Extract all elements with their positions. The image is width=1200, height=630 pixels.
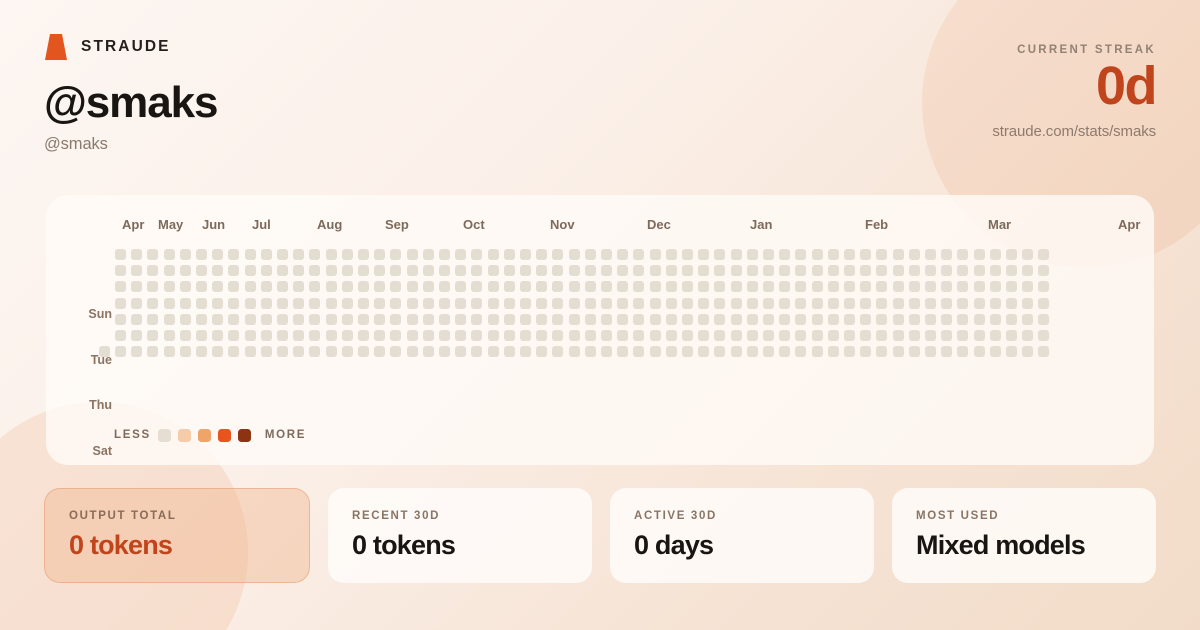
heatmap-cell[interactable]	[909, 249, 920, 260]
heatmap-cell[interactable]	[536, 249, 547, 260]
heatmap-cell[interactable]	[164, 346, 175, 357]
heatmap-cell[interactable]	[277, 281, 288, 292]
heatmap-cell[interactable]	[569, 330, 580, 341]
heatmap-cell[interactable]	[974, 249, 985, 260]
heatmap-cell[interactable]	[876, 265, 887, 276]
heatmap-cell[interactable]	[390, 249, 401, 260]
heatmap-cell[interactable]	[326, 314, 337, 325]
heatmap-cell[interactable]	[326, 281, 337, 292]
heatmap-cell[interactable]	[147, 249, 158, 260]
heatmap-cell[interactable]	[293, 281, 304, 292]
heatmap-cell[interactable]	[374, 298, 385, 309]
heatmap-cell[interactable]	[876, 298, 887, 309]
heatmap-cell[interactable]	[601, 330, 612, 341]
heatmap-cell[interactable]	[1006, 281, 1017, 292]
heatmap-cell[interactable]	[617, 314, 628, 325]
heatmap-cell[interactable]	[585, 298, 596, 309]
heatmap-cell[interactable]	[1022, 314, 1033, 325]
heatmap-cell[interactable]	[974, 298, 985, 309]
heatmap-cell[interactable]	[893, 249, 904, 260]
heatmap-cell[interactable]	[1006, 249, 1017, 260]
heatmap-cell[interactable]	[423, 298, 434, 309]
heatmap-cell[interactable]	[228, 314, 239, 325]
heatmap-cell[interactable]	[828, 249, 839, 260]
heatmap-cell[interactable]	[245, 249, 256, 260]
heatmap-cell[interactable]	[747, 346, 758, 357]
heatmap-cell[interactable]	[536, 298, 547, 309]
heatmap-cell[interactable]	[131, 298, 142, 309]
heatmap-cell[interactable]	[488, 281, 499, 292]
heatmap-cell[interactable]	[471, 281, 482, 292]
heatmap-cell[interactable]	[714, 265, 725, 276]
heatmap-cell[interactable]	[714, 346, 725, 357]
heatmap-cell[interactable]	[261, 298, 272, 309]
heatmap-cell[interactable]	[860, 314, 871, 325]
stat-card[interactable]: RECENT 30D0 tokens	[328, 488, 592, 583]
heatmap-cell[interactable]	[504, 346, 515, 357]
heatmap-cell[interactable]	[585, 265, 596, 276]
heatmap-cell[interactable]	[925, 249, 936, 260]
stat-card[interactable]: OUTPUT TOTAL0 tokens	[44, 488, 310, 583]
heatmap-cell[interactable]	[407, 314, 418, 325]
heatmap-cell[interactable]	[115, 346, 126, 357]
heatmap-cell[interactable]	[390, 346, 401, 357]
heatmap-cell[interactable]	[471, 346, 482, 357]
heatmap-cell[interactable]	[957, 265, 968, 276]
heatmap-cell[interactable]	[974, 346, 985, 357]
heatmap-cell[interactable]	[698, 265, 709, 276]
heatmap-cell[interactable]	[1006, 330, 1017, 341]
heatmap-cell[interactable]	[650, 249, 661, 260]
heatmap-cell[interactable]	[504, 314, 515, 325]
heatmap-cell[interactable]	[812, 249, 823, 260]
heatmap-cell[interactable]	[779, 314, 790, 325]
heatmap-cell[interactable]	[812, 298, 823, 309]
heatmap-cell[interactable]	[293, 249, 304, 260]
heatmap-cell[interactable]	[471, 330, 482, 341]
heatmap-cell[interactable]	[893, 330, 904, 341]
heatmap-cell[interactable]	[714, 281, 725, 292]
heatmap-cell[interactable]	[520, 314, 531, 325]
heatmap-cell[interactable]	[261, 281, 272, 292]
heatmap-cell[interactable]	[893, 346, 904, 357]
heatmap-cell[interactable]	[212, 249, 223, 260]
heatmap-cell[interactable]	[358, 330, 369, 341]
heatmap-cell[interactable]	[488, 249, 499, 260]
heatmap-cell[interactable]	[714, 298, 725, 309]
heatmap-cell[interactable]	[795, 265, 806, 276]
heatmap-cell[interactable]	[131, 281, 142, 292]
heatmap-cell[interactable]	[990, 265, 1001, 276]
heatmap-cell[interactable]	[601, 281, 612, 292]
heatmap-cell[interactable]	[682, 346, 693, 357]
heatmap-cell[interactable]	[779, 298, 790, 309]
heatmap-cell[interactable]	[407, 281, 418, 292]
heatmap-cell[interactable]	[828, 298, 839, 309]
heatmap-cell[interactable]	[990, 298, 1001, 309]
heatmap-cell[interactable]	[763, 265, 774, 276]
heatmap-cell[interactable]	[860, 298, 871, 309]
heatmap-cell[interactable]	[714, 330, 725, 341]
heatmap-cell[interactable]	[666, 281, 677, 292]
heatmap-cell[interactable]	[196, 281, 207, 292]
heatmap-cell[interactable]	[731, 346, 742, 357]
heatmap-cell[interactable]	[633, 249, 644, 260]
heatmap-cell[interactable]	[909, 330, 920, 341]
heatmap-cell[interactable]	[1038, 265, 1049, 276]
heatmap-cell[interactable]	[650, 330, 661, 341]
heatmap-cell[interactable]	[115, 330, 126, 341]
heatmap-cell[interactable]	[747, 330, 758, 341]
heatmap-cell[interactable]	[633, 298, 644, 309]
heatmap-cell[interactable]	[779, 346, 790, 357]
heatmap-cell[interactable]	[795, 281, 806, 292]
heatmap-cell[interactable]	[957, 298, 968, 309]
heatmap-cell[interactable]	[909, 265, 920, 276]
heatmap-cell[interactable]	[245, 281, 256, 292]
heatmap-cell[interactable]	[650, 314, 661, 325]
heatmap-cell[interactable]	[455, 249, 466, 260]
heatmap-cell[interactable]	[1006, 265, 1017, 276]
heatmap-cell[interactable]	[1022, 330, 1033, 341]
heatmap-cell[interactable]	[196, 346, 207, 357]
heatmap-cell[interactable]	[860, 265, 871, 276]
heatmap-cell[interactable]	[763, 249, 774, 260]
heatmap-cell[interactable]	[115, 265, 126, 276]
heatmap-cell[interactable]	[245, 330, 256, 341]
heatmap-cell[interactable]	[520, 265, 531, 276]
heatmap-cell[interactable]	[585, 330, 596, 341]
heatmap-cell[interactable]	[309, 298, 320, 309]
heatmap-cell[interactable]	[844, 281, 855, 292]
heatmap-cell[interactable]	[633, 330, 644, 341]
heatmap-cell[interactable]	[633, 346, 644, 357]
heatmap-cell[interactable]	[196, 265, 207, 276]
heatmap-cell[interactable]	[228, 265, 239, 276]
heatmap-cell[interactable]	[147, 281, 158, 292]
heatmap-cell[interactable]	[828, 346, 839, 357]
heatmap-cell[interactable]	[698, 298, 709, 309]
heatmap-cell[interactable]	[1006, 346, 1017, 357]
heatmap-cell[interactable]	[552, 265, 563, 276]
heatmap-cell[interactable]	[520, 281, 531, 292]
heatmap-cell[interactable]	[795, 330, 806, 341]
heatmap-cell[interactable]	[309, 346, 320, 357]
heatmap-cell[interactable]	[1006, 314, 1017, 325]
heatmap-cell[interactable]	[455, 298, 466, 309]
heatmap-cell[interactable]	[714, 249, 725, 260]
heatmap-cell[interactable]	[374, 281, 385, 292]
heatmap-cell[interactable]	[1038, 346, 1049, 357]
heatmap-cell[interactable]	[1038, 298, 1049, 309]
heatmap-cell[interactable]	[893, 281, 904, 292]
heatmap-cell[interactable]	[941, 298, 952, 309]
heatmap-cell[interactable]	[439, 330, 450, 341]
heatmap-cell[interactable]	[812, 265, 823, 276]
heatmap-cell[interactable]	[309, 249, 320, 260]
heatmap-cell[interactable]	[455, 265, 466, 276]
heatmap-cell[interactable]	[212, 265, 223, 276]
heatmap-cell[interactable]	[390, 314, 401, 325]
heatmap-cell[interactable]	[293, 330, 304, 341]
heatmap-cell[interactable]	[552, 346, 563, 357]
heatmap-cell[interactable]	[455, 281, 466, 292]
heatmap-cell[interactable]	[731, 281, 742, 292]
heatmap-cell[interactable]	[358, 346, 369, 357]
heatmap-cell[interactable]	[795, 346, 806, 357]
heatmap-cell[interactable]	[957, 249, 968, 260]
heatmap-cell[interactable]	[585, 346, 596, 357]
heatmap-cell[interactable]	[650, 298, 661, 309]
heatmap-cell[interactable]	[358, 314, 369, 325]
heatmap-cell[interactable]	[860, 330, 871, 341]
heatmap-cell[interactable]	[115, 314, 126, 325]
heatmap-cell[interactable]	[131, 346, 142, 357]
heatmap-cell[interactable]	[390, 330, 401, 341]
heatmap-cell[interactable]	[293, 265, 304, 276]
heatmap-cell[interactable]	[876, 281, 887, 292]
stat-card[interactable]: MOST USEDMixed models	[892, 488, 1156, 583]
heatmap-cell[interactable]	[196, 330, 207, 341]
heatmap-cell[interactable]	[342, 249, 353, 260]
heatmap-cell[interactable]	[228, 346, 239, 357]
heatmap-cell[interactable]	[731, 298, 742, 309]
heatmap-cell[interactable]	[1022, 346, 1033, 357]
heatmap-cell[interactable]	[957, 314, 968, 325]
heatmap-cell[interactable]	[990, 249, 1001, 260]
heatmap-cell[interactable]	[407, 265, 418, 276]
heatmap-cell[interactable]	[407, 346, 418, 357]
heatmap-cell[interactable]	[876, 330, 887, 341]
heatmap-cell[interactable]	[666, 330, 677, 341]
heatmap-cell[interactable]	[180, 249, 191, 260]
heatmap-cell[interactable]	[601, 346, 612, 357]
heatmap-cell[interactable]	[974, 265, 985, 276]
heatmap-cell[interactable]	[682, 314, 693, 325]
heatmap-cell[interactable]	[407, 330, 418, 341]
heatmap-cell[interactable]	[504, 249, 515, 260]
heatmap-cell[interactable]	[552, 281, 563, 292]
heatmap-cell[interactable]	[990, 314, 1001, 325]
heatmap-cell[interactable]	[844, 298, 855, 309]
heatmap-cell[interactable]	[245, 298, 256, 309]
heatmap-cell[interactable]	[844, 346, 855, 357]
heatmap-cell[interactable]	[974, 281, 985, 292]
heatmap-cell[interactable]	[617, 249, 628, 260]
heatmap-cell[interactable]	[1038, 281, 1049, 292]
heatmap-cell[interactable]	[147, 314, 158, 325]
heatmap-cell[interactable]	[147, 265, 158, 276]
heatmap-cell[interactable]	[180, 314, 191, 325]
heatmap-cell[interactable]	[1038, 314, 1049, 325]
heatmap-cell[interactable]	[293, 346, 304, 357]
heatmap-cell[interactable]	[633, 314, 644, 325]
heatmap-cell[interactable]	[504, 330, 515, 341]
heatmap-cell[interactable]	[779, 265, 790, 276]
heatmap-cell[interactable]	[925, 346, 936, 357]
heatmap-cell[interactable]	[1006, 298, 1017, 309]
heatmap-cell[interactable]	[471, 314, 482, 325]
heatmap-cell[interactable]	[423, 265, 434, 276]
heatmap-cell[interactable]	[488, 346, 499, 357]
heatmap-cell[interactable]	[1022, 265, 1033, 276]
heatmap-cell[interactable]	[941, 330, 952, 341]
heatmap-cell[interactable]	[212, 346, 223, 357]
heatmap-cell[interactable]	[520, 330, 531, 341]
heatmap-cell[interactable]	[1038, 330, 1049, 341]
heatmap-cell[interactable]	[569, 281, 580, 292]
heatmap-cell[interactable]	[779, 330, 790, 341]
heatmap-cell[interactable]	[974, 314, 985, 325]
heatmap-cell[interactable]	[245, 314, 256, 325]
heatmap-cell[interactable]	[439, 265, 450, 276]
heatmap-cell[interactable]	[342, 330, 353, 341]
heatmap-cell[interactable]	[844, 249, 855, 260]
heatmap-cell[interactable]	[147, 346, 158, 357]
heatmap-cell[interactable]	[650, 346, 661, 357]
heatmap-cell[interactable]	[277, 330, 288, 341]
heatmap-cell[interactable]	[957, 346, 968, 357]
heatmap-cell[interactable]	[941, 346, 952, 357]
heatmap-cell[interactable]	[569, 249, 580, 260]
heatmap-cell[interactable]	[552, 314, 563, 325]
heatmap-cell[interactable]	[277, 314, 288, 325]
heatmap-cell[interactable]	[633, 281, 644, 292]
heatmap-cell[interactable]	[455, 346, 466, 357]
heatmap-cell[interactable]	[617, 281, 628, 292]
heatmap-cell[interactable]	[147, 330, 158, 341]
heatmap-cell[interactable]	[277, 249, 288, 260]
heatmap-cell[interactable]	[1022, 298, 1033, 309]
heatmap-cell[interactable]	[876, 249, 887, 260]
heatmap-cell[interactable]	[488, 330, 499, 341]
heatmap-cell[interactable]	[876, 314, 887, 325]
heatmap-cell[interactable]	[650, 265, 661, 276]
heatmap-cell[interactable]	[941, 281, 952, 292]
heatmap-cell[interactable]	[504, 298, 515, 309]
heatmap-cell[interactable]	[196, 298, 207, 309]
heatmap-cell[interactable]	[569, 346, 580, 357]
heatmap-cell[interactable]	[131, 330, 142, 341]
heatmap-cell[interactable]	[828, 314, 839, 325]
heatmap-cell[interactable]	[925, 265, 936, 276]
heatmap-cell[interactable]	[941, 314, 952, 325]
heatmap-cell[interactable]	[520, 249, 531, 260]
heatmap-cell[interactable]	[812, 330, 823, 341]
heatmap-cell[interactable]	[536, 281, 547, 292]
heatmap-cell[interactable]	[1038, 249, 1049, 260]
heatmap-cell[interactable]	[682, 330, 693, 341]
heatmap-cell[interactable]	[439, 249, 450, 260]
heatmap-cell[interactable]	[536, 346, 547, 357]
heatmap-cell[interactable]	[763, 314, 774, 325]
heatmap-cell[interactable]	[650, 281, 661, 292]
heatmap-cell[interactable]	[617, 330, 628, 341]
heatmap-cell[interactable]	[115, 281, 126, 292]
heatmap-cell[interactable]	[358, 249, 369, 260]
heatmap-cell[interactable]	[1022, 249, 1033, 260]
heatmap-cell[interactable]	[731, 265, 742, 276]
heatmap-cell[interactable]	[439, 298, 450, 309]
heatmap-cell[interactable]	[666, 249, 677, 260]
heatmap-cell[interactable]	[941, 265, 952, 276]
heatmap-cell[interactable]	[180, 265, 191, 276]
heatmap-cell[interactable]	[245, 265, 256, 276]
heatmap-cell[interactable]	[747, 281, 758, 292]
heatmap-cell[interactable]	[439, 281, 450, 292]
heatmap-cell[interactable]	[261, 249, 272, 260]
heatmap-cell[interactable]	[731, 330, 742, 341]
heatmap-cell[interactable]	[293, 314, 304, 325]
heatmap-cell[interactable]	[812, 314, 823, 325]
heatmap-cell[interactable]	[277, 265, 288, 276]
heatmap-cell[interactable]	[164, 249, 175, 260]
heatmap-cell[interactable]	[617, 265, 628, 276]
heatmap-cell[interactable]	[115, 298, 126, 309]
heatmap-cell[interactable]	[423, 314, 434, 325]
heatmap-cell[interactable]	[860, 346, 871, 357]
heatmap-cell[interactable]	[326, 298, 337, 309]
heatmap-cell[interactable]	[164, 265, 175, 276]
heatmap-cell[interactable]	[682, 249, 693, 260]
heatmap-cell[interactable]	[617, 298, 628, 309]
heatmap-cell[interactable]	[374, 330, 385, 341]
heatmap-cell[interactable]	[471, 249, 482, 260]
stat-card[interactable]: ACTIVE 30D0 days	[610, 488, 874, 583]
heatmap-cell[interactable]	[277, 346, 288, 357]
heatmap-cell[interactable]	[698, 249, 709, 260]
heatmap-cell[interactable]	[293, 298, 304, 309]
heatmap-cell[interactable]	[99, 346, 110, 357]
heatmap-cell[interactable]	[228, 281, 239, 292]
heatmap-cell[interactable]	[844, 265, 855, 276]
heatmap-cell[interactable]	[763, 281, 774, 292]
heatmap-cell[interactable]	[147, 298, 158, 309]
heatmap-cell[interactable]	[131, 265, 142, 276]
heatmap-cell[interactable]	[925, 298, 936, 309]
heatmap-cell[interactable]	[698, 314, 709, 325]
heatmap-cell[interactable]	[488, 265, 499, 276]
heatmap-cell[interactable]	[228, 249, 239, 260]
heatmap-cell[interactable]	[617, 346, 628, 357]
heatmap-cell[interactable]	[666, 346, 677, 357]
heatmap-cell[interactable]	[164, 298, 175, 309]
heatmap-cell[interactable]	[763, 346, 774, 357]
heatmap-cell[interactable]	[812, 281, 823, 292]
heatmap-cell[interactable]	[763, 298, 774, 309]
heatmap-cell[interactable]	[115, 249, 126, 260]
heatmap-cell[interactable]	[698, 281, 709, 292]
heatmap-cell[interactable]	[536, 314, 547, 325]
heatmap-cell[interactable]	[795, 298, 806, 309]
heatmap-cell[interactable]	[212, 330, 223, 341]
heatmap-cell[interactable]	[342, 346, 353, 357]
heatmap-cell[interactable]	[682, 265, 693, 276]
heatmap-cell[interactable]	[228, 298, 239, 309]
heatmap-cell[interactable]	[261, 330, 272, 341]
heatmap-cell[interactable]	[131, 314, 142, 325]
heatmap-cell[interactable]	[520, 298, 531, 309]
heatmap-cell[interactable]	[407, 249, 418, 260]
heatmap-cell[interactable]	[423, 281, 434, 292]
heatmap-cell[interactable]	[585, 249, 596, 260]
heatmap-cell[interactable]	[261, 265, 272, 276]
heatmap-cell[interactable]	[779, 249, 790, 260]
heatmap-cell[interactable]	[682, 298, 693, 309]
heatmap-cell[interactable]	[1022, 281, 1033, 292]
heatmap-cell[interactable]	[488, 298, 499, 309]
heatmap-cell[interactable]	[471, 298, 482, 309]
